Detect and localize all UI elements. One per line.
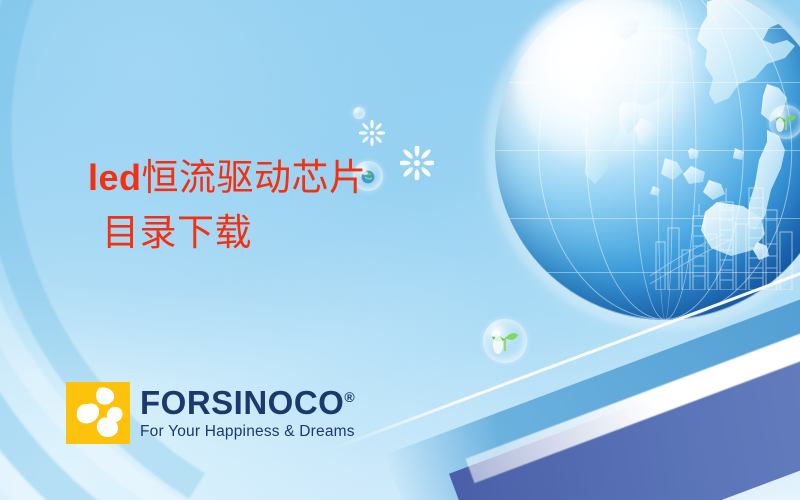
sprout-icon (483, 319, 527, 363)
bubble-tiny (353, 107, 365, 119)
bubble-sprout-content (483, 319, 527, 363)
globe-highlight (515, 0, 712, 170)
flower-sparkle-icon (359, 120, 385, 151)
pinwheel-petals-svg (66, 382, 130, 444)
flower-sparkle-svg (359, 120, 385, 146)
flower-sparkle-icon (400, 146, 434, 185)
title-latin-prefix: led (88, 157, 142, 198)
title-line-2: 目录下载 (102, 215, 367, 252)
bubble-sprout-right-content (769, 105, 800, 139)
sprout-icon (769, 105, 800, 139)
registered-mark-icon: ® (344, 389, 355, 405)
title-cjk-suffix: 恒流驱动芯片 (142, 158, 367, 199)
brand-wordmark: FORSINOCO® (140, 386, 355, 419)
bubble-sprout (483, 319, 527, 363)
page-title: led恒流驱动芯片 目录下载 (88, 160, 367, 252)
title-line-1: led恒流驱动芯片 (88, 160, 367, 197)
brand-name: FORSINOCO (140, 384, 344, 421)
flower-sparkle-svg (400, 146, 434, 180)
pinwheel-logo-icon (66, 382, 130, 444)
bubble-sprout-right (769, 105, 800, 139)
brand-tagline: For Your Happiness & Dreams (140, 424, 355, 440)
brand-text: FORSINOCO® For Your Happiness & Dreams (140, 386, 355, 440)
brand-logo[interactable]: FORSINOCO® For Your Happiness & Dreams (66, 382, 355, 444)
poster-canvas: led恒流驱动芯片 目录下载 FORSINOCO® For Your Happi… (0, 0, 800, 500)
